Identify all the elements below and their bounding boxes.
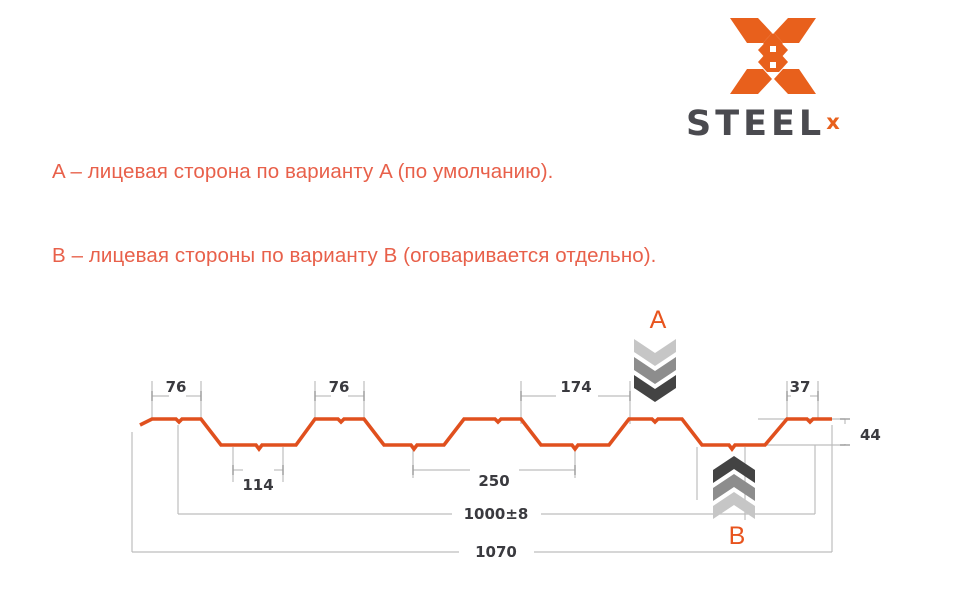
dim-37: 37 [790, 378, 811, 396]
marker-b-label: B [717, 522, 757, 551]
dim-250: 250 [478, 472, 509, 490]
dim-114: 114 [242, 476, 273, 494]
sheet-profile-line [140, 419, 832, 449]
marker-a-label: A [638, 306, 678, 335]
dim-76-left: 76 [166, 378, 187, 396]
profile-drawing-page: STEELx A – лицевая сторона по варианту A… [0, 0, 970, 597]
dim-44: 44 [860, 426, 881, 444]
chevrons-up-icon [713, 456, 755, 519]
dim-76-mid: 76 [329, 378, 350, 396]
dim-1070: 1070 [475, 543, 517, 561]
chevrons-down-icon [634, 339, 676, 402]
dim-1000: 1000±8 [464, 505, 529, 523]
dim-174: 174 [560, 378, 591, 396]
profile-technical-drawing: 76 76 174 37 114 250 44 1000±8 1070 [0, 0, 970, 597]
